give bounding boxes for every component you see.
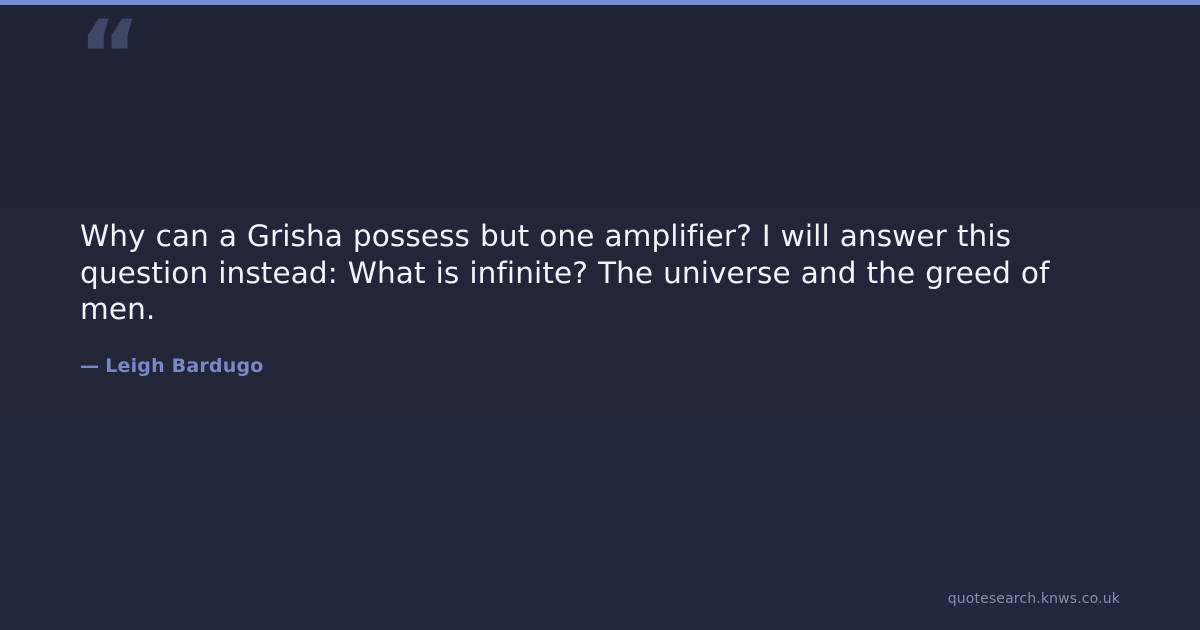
em-dash: — bbox=[80, 354, 99, 378]
author-name: Leigh Bardugo bbox=[105, 355, 263, 377]
open-quote-icon: “ bbox=[78, 8, 139, 104]
quote-text: Why can a Grisha possess but one amplifi… bbox=[80, 218, 1124, 328]
quote-content: Why can a Grisha possess but one amplifi… bbox=[80, 218, 1124, 378]
quote-attribution: —Leigh Bardugo bbox=[80, 354, 1124, 378]
site-watermark: quotesearch.knws.co.uk bbox=[948, 590, 1120, 608]
quote-card: “ Why can a Grisha possess but one ampli… bbox=[0, 0, 1200, 630]
top-accent-bar bbox=[0, 0, 1200, 5]
